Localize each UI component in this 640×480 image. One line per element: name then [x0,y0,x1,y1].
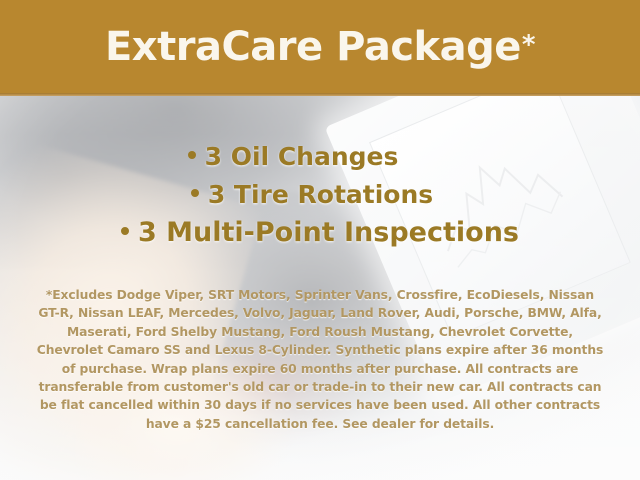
header-band-edge [0,93,640,96]
bullet-dot-icon [188,151,196,159]
bullet-dot-icon [121,227,129,235]
benefits-list: 3 Oil Changes 3 Tire Rotations 3 Multi-P… [0,138,640,252]
benefit-item: 3 Multi-Point Inspections [0,214,640,252]
bullet-dot-icon [191,189,199,197]
disclaimer-text: *Excludes Dodge Viper, SRT Motors, Sprin… [36,286,604,433]
benefit-item-label: 3 Multi-Point Inspections [138,217,519,248]
benefit-item-label: 3 Oil Changes [205,142,399,171]
disclaimer-paragraph: *Excludes Dodge Viper, SRT Motors, Sprin… [36,286,604,433]
benefit-item: 3 Oil Changes [0,138,640,176]
page-title: ExtraCare Package* [0,0,640,93]
benefit-item: 3 Tire Rotations [0,176,640,214]
page-title-text: ExtraCare Package [105,24,521,70]
benefit-item-label: 3 Tire Rotations [208,180,433,209]
extracare-package-ad: ExtraCare Package* 3 Oil Changes 3 Tire … [0,0,640,480]
